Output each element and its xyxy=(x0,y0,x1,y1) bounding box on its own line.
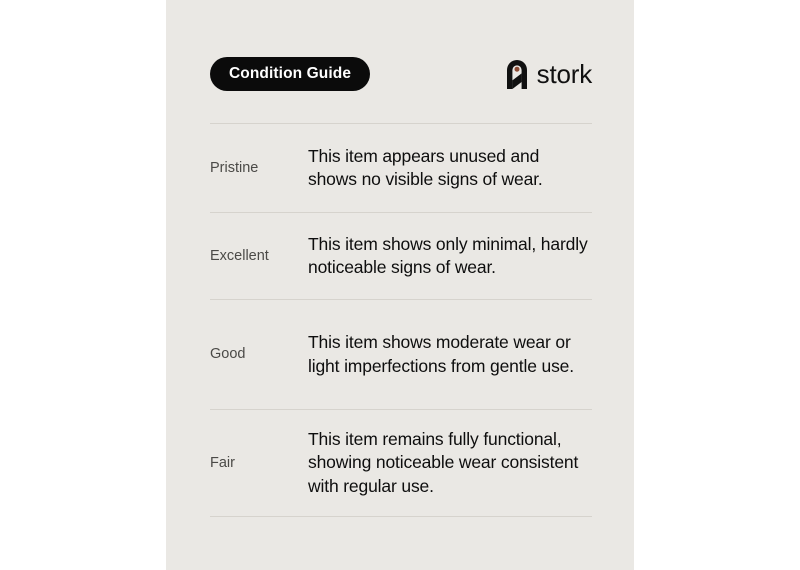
condition-label: Excellent xyxy=(210,247,308,266)
stork-logo-icon xyxy=(504,58,530,90)
condition-guide-card: Condition Guide stork P xyxy=(166,0,634,570)
stork-brand[interactable]: stork xyxy=(504,58,592,90)
condition-description: This item appears unused and shows no vi… xyxy=(308,145,592,191)
table-row: Pristine This item appears unused and sh… xyxy=(210,124,592,212)
card-header: Condition Guide stork xyxy=(210,57,592,91)
condition-description: This item shows moderate wear or light i… xyxy=(308,331,592,377)
table-row: Good This item shows moderate wear or li… xyxy=(210,300,592,409)
table-row: Fair This item remains fully functional,… xyxy=(210,410,592,516)
table-divider-bottom xyxy=(210,516,592,517)
condition-label: Pristine xyxy=(210,159,308,178)
condition-label: Good xyxy=(210,345,308,364)
condition-description: This item remains fully functional, show… xyxy=(308,428,592,497)
page-canvas: Condition Guide stork P xyxy=(0,0,800,570)
condition-description: This item shows only minimal, hardly not… xyxy=(308,233,592,279)
stork-wordmark: stork xyxy=(537,61,592,87)
table-row: Excellent This item shows only minimal, … xyxy=(210,213,592,299)
condition-guide-table: Pristine This item appears unused and sh… xyxy=(210,123,592,517)
condition-label: Fair xyxy=(210,454,308,473)
condition-guide-badge[interactable]: Condition Guide xyxy=(210,57,370,91)
